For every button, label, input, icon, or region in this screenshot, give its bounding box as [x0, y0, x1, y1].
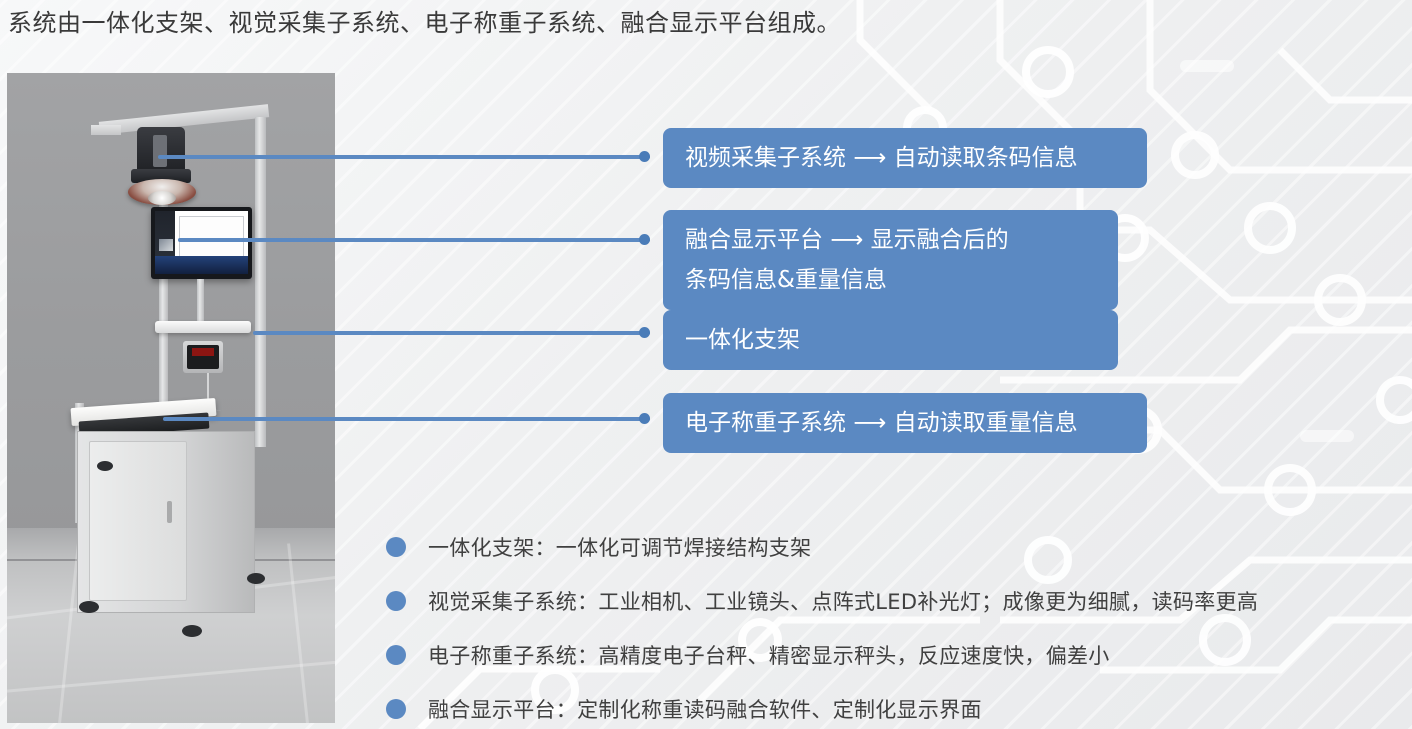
slide-canvas: 系统由一体化支架、视觉采集子系统、电子称重子系统、融合显示平台组成。: [0, 0, 1412, 729]
callout-electronic-weighing[interactable]: 电子称重子系统 ⟶ 自动读取重量信息: [663, 393, 1147, 453]
callout-fusion-display[interactable]: 融合显示平台 ⟶ 显示融合后的 条码信息&重量信息: [663, 210, 1118, 310]
callout-integrated-bracket[interactable]: 一体化支架: [663, 310, 1118, 370]
leader-endpoint-dot: [639, 151, 650, 162]
photo-led-ring-core: [148, 191, 176, 205]
photo-display-monitor: [151, 207, 252, 279]
bullet-text-electronic-weighing: 电子称重子系统：高精度电子台秤、精密显示秤头，反应速度快，偏差小: [428, 640, 1110, 670]
bullet-dot-icon: [386, 537, 406, 557]
photo-monitor-stand: [197, 279, 204, 323]
leader-endpoint-dot: [639, 234, 650, 245]
list-item: 一体化支架：一体化可调节焊接结构支架: [386, 520, 1258, 574]
list-item: 电子称重子系统：高精度电子台秤、精密显示秤头，反应速度快，偏差小: [386, 628, 1258, 682]
feature-list: 一体化支架：一体化可调节焊接结构支架 视觉采集子系统：工业相机、工业镜头、点阵式…: [386, 520, 1258, 729]
photo-camera-slot: [153, 135, 167, 167]
leader-line: [253, 331, 650, 335]
photo-screen-content-panel: [179, 216, 244, 257]
bullet-text-fusion-display: 融合显示平台：定制化称重读码融合软件、定制化显示界面: [428, 694, 982, 724]
photo-leveling-foot: [79, 601, 99, 613]
page-title: 系统由一体化支架、视觉采集子系统、电子称重子系统、融合显示平台组成。: [8, 6, 841, 40]
photo-accessory-shelf: [155, 321, 251, 333]
leader-line: [163, 417, 650, 421]
leader-endpoint-dot: [639, 413, 650, 424]
bullet-text-integrated-bracket: 一体化支架：一体化可调节焊接结构支架: [428, 532, 811, 562]
callout-video-capture[interactable]: 视频采集子系统 ⟶ 自动读取条码信息: [663, 128, 1147, 188]
photo-leveling-foot: [182, 625, 202, 637]
leader-line: [178, 238, 650, 242]
photo-screen-taskbar: [155, 256, 248, 274]
photo-vertical-post-right: [255, 117, 266, 447]
photo-scale-indicator: [183, 341, 223, 373]
photo-top-beam-end: [91, 125, 121, 135]
leader-line: [158, 155, 650, 159]
bullet-dot-icon: [386, 645, 406, 665]
photo-indicator-face: [187, 345, 219, 369]
station-photo: [7, 73, 335, 723]
bullet-text-vision-capture: 视觉采集子系统：工业相机、工业镜头、点阵式LED补光灯；成像更为细腻，读码率更高: [428, 586, 1258, 616]
photo-monitor-screen: [155, 211, 248, 274]
leader-endpoint-dot: [639, 327, 650, 338]
photo-scale-foot: [97, 461, 113, 471]
list-item: 融合显示平台：定制化称重读码融合软件、定制化显示界面: [386, 682, 1258, 729]
bullet-dot-icon: [386, 591, 406, 611]
photo-screen-thumbnail: [159, 239, 173, 252]
photo-cabinet-handle: [167, 501, 172, 523]
bullet-dot-icon: [386, 699, 406, 719]
list-item: 视觉采集子系统：工业相机、工业镜头、点阵式LED补光灯；成像更为细腻，读码率更高: [386, 574, 1258, 628]
photo-leveling-foot: [247, 573, 265, 584]
photo-indicator-led-display: [192, 348, 214, 356]
